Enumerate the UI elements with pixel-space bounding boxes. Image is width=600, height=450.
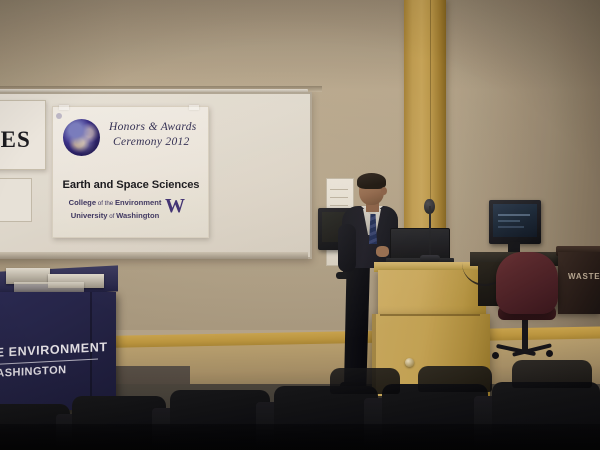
college-tail: Environment — [115, 198, 161, 207]
wall-sign-text: CES — [0, 127, 31, 153]
foreground-shadow — [0, 424, 600, 450]
side-monitor-ui-line — [498, 214, 530, 216]
college-mid: of the — [96, 200, 115, 207]
podium-lock-knob — [405, 358, 414, 367]
university-tail: Washington — [116, 211, 159, 220]
poster-university-line: University of Washington — [55, 211, 175, 220]
poster-college-line: College of the Environment — [55, 198, 175, 207]
chair-wheel — [546, 350, 553, 357]
speaker-hand — [376, 246, 389, 257]
poster-script-line-1: Honors & Awards — [109, 121, 197, 133]
awards-ceremony-poster: Honors & Awards Ceremony 2012 Earth and … — [52, 106, 209, 238]
waste-bin — [558, 252, 600, 314]
poster-script-line-2: Ceremony 2012 — [113, 136, 190, 148]
microphone-base — [420, 255, 440, 262]
auditorium-seat-back-row — [330, 368, 400, 394]
poster-department-title: Earth and Space Sciences — [61, 179, 201, 191]
university-lead: University — [71, 211, 108, 220]
earth-globe-icon — [63, 119, 100, 156]
tape-corner-icon — [189, 105, 199, 110]
lecture-hall-photo: CES A Honors & Awards Ceremony 2012 Eart… — [0, 0, 600, 450]
whiteboard-marker-tray — [0, 252, 308, 259]
college-lead: College — [69, 198, 96, 207]
speaker-arm — [338, 224, 356, 272]
auditorium-seat-back-row — [418, 366, 492, 392]
uw-w-logo: W — [165, 195, 184, 218]
chair-post — [522, 318, 528, 352]
ceiling-shadow — [0, 0, 600, 90]
chair-wheel — [492, 352, 499, 359]
auditorium-seat-back-row — [512, 360, 592, 388]
table-banner-line-2: WASHINGTON — [0, 364, 67, 380]
side-monitor-ui-line — [498, 226, 524, 228]
wall-sign-secondary: A — [0, 178, 32, 222]
side-monitor-stand — [508, 242, 520, 252]
moon-dot-icon — [56, 113, 62, 119]
table-banner: HE ENVIRONMENT WASHINGTON — [0, 340, 110, 390]
tape-corner-icon — [59, 105, 69, 110]
podium-seam — [380, 314, 480, 316]
microphone-gooseneck — [429, 206, 431, 258]
university-mid: of — [107, 213, 116, 220]
wall-sign-partial: CES — [0, 100, 46, 170]
waste-bin-label: WASTE — [568, 272, 600, 281]
award-certificate-stack — [14, 282, 84, 292]
office-chair-back — [496, 252, 558, 314]
speaker-ear — [381, 187, 387, 195]
side-monitor-ui-line — [498, 220, 520, 222]
